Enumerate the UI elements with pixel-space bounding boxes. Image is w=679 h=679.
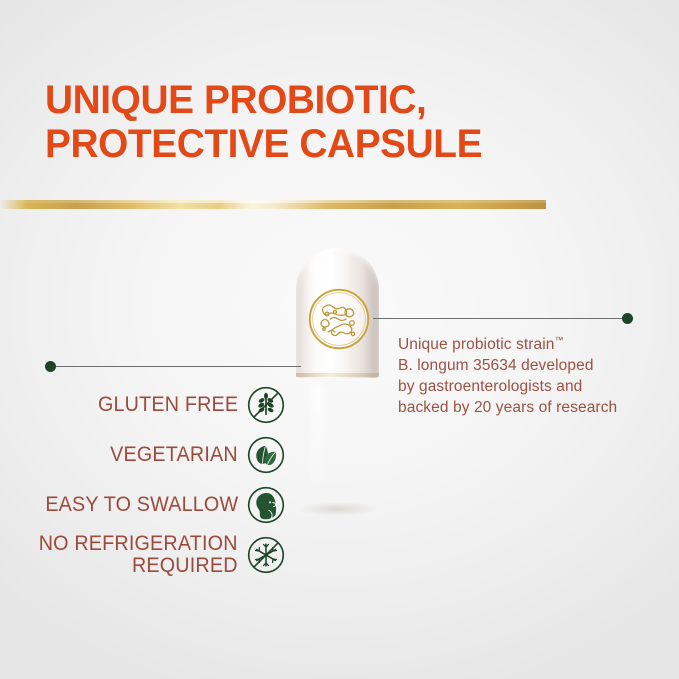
wheat-no-gluten-icon — [247, 386, 285, 424]
feature-easy-to-swallow: EASY TO SWALLOW — [20, 480, 285, 530]
capsule-seam — [296, 373, 379, 377]
feature-list: GLUTEN FREE VEGETARIAN — [20, 380, 285, 580]
leader-line-left — [54, 366, 301, 367]
feature-gluten-free: GLUTEN FREE — [20, 380, 285, 430]
head-swallow-icon — [247, 486, 285, 524]
page-title: UNIQUE PROBIOTIC, PROTECTIVE CAPSULE — [45, 78, 605, 166]
leaves-vegetarian-icon — [247, 436, 285, 474]
leader-line-right — [373, 318, 626, 319]
title-line-1: UNIQUE PROBIOTIC, — [45, 78, 588, 122]
snowflake-no-refrigeration-icon — [247, 536, 285, 574]
feature-label-vegetarian: VEGETARIAN — [110, 444, 238, 466]
feature-no-refrigeration: NO REFRIGERATION REQUIRED — [20, 530, 285, 580]
feature-label-no-refrigeration: NO REFRIGERATION REQUIRED — [39, 533, 238, 577]
title-line-2: PROTECTIVE CAPSULE — [45, 122, 588, 166]
annotation-line-4: backed by 20 years of research — [398, 397, 648, 418]
bacteria-medallion — [308, 288, 370, 350]
annotation-line-3: by gastroenterologists and — [398, 376, 648, 397]
feature-vegetarian: VEGETARIAN — [20, 430, 285, 480]
feature-label-gluten-free: GLUTEN FREE — [98, 394, 238, 416]
gold-divider-bar — [0, 200, 546, 209]
feature-label-easy-to-swallow: EASY TO SWALLOW — [45, 494, 238, 516]
leader-dot-left — [45, 361, 56, 372]
capsule-bottom-half — [296, 375, 379, 509]
probiotic-capsule-infographic: UNIQUE PROBIOTIC, PROTECTIVE CAPSULE — [0, 0, 679, 679]
annotation-line-2: B. longum 35634 developed — [398, 355, 648, 376]
leader-dot-right — [622, 313, 633, 324]
probiotic-strain-annotation: Unique probiotic strain™ B. longum 35634… — [398, 330, 648, 418]
annotation-line-1: Unique probiotic strain™ — [398, 330, 648, 355]
